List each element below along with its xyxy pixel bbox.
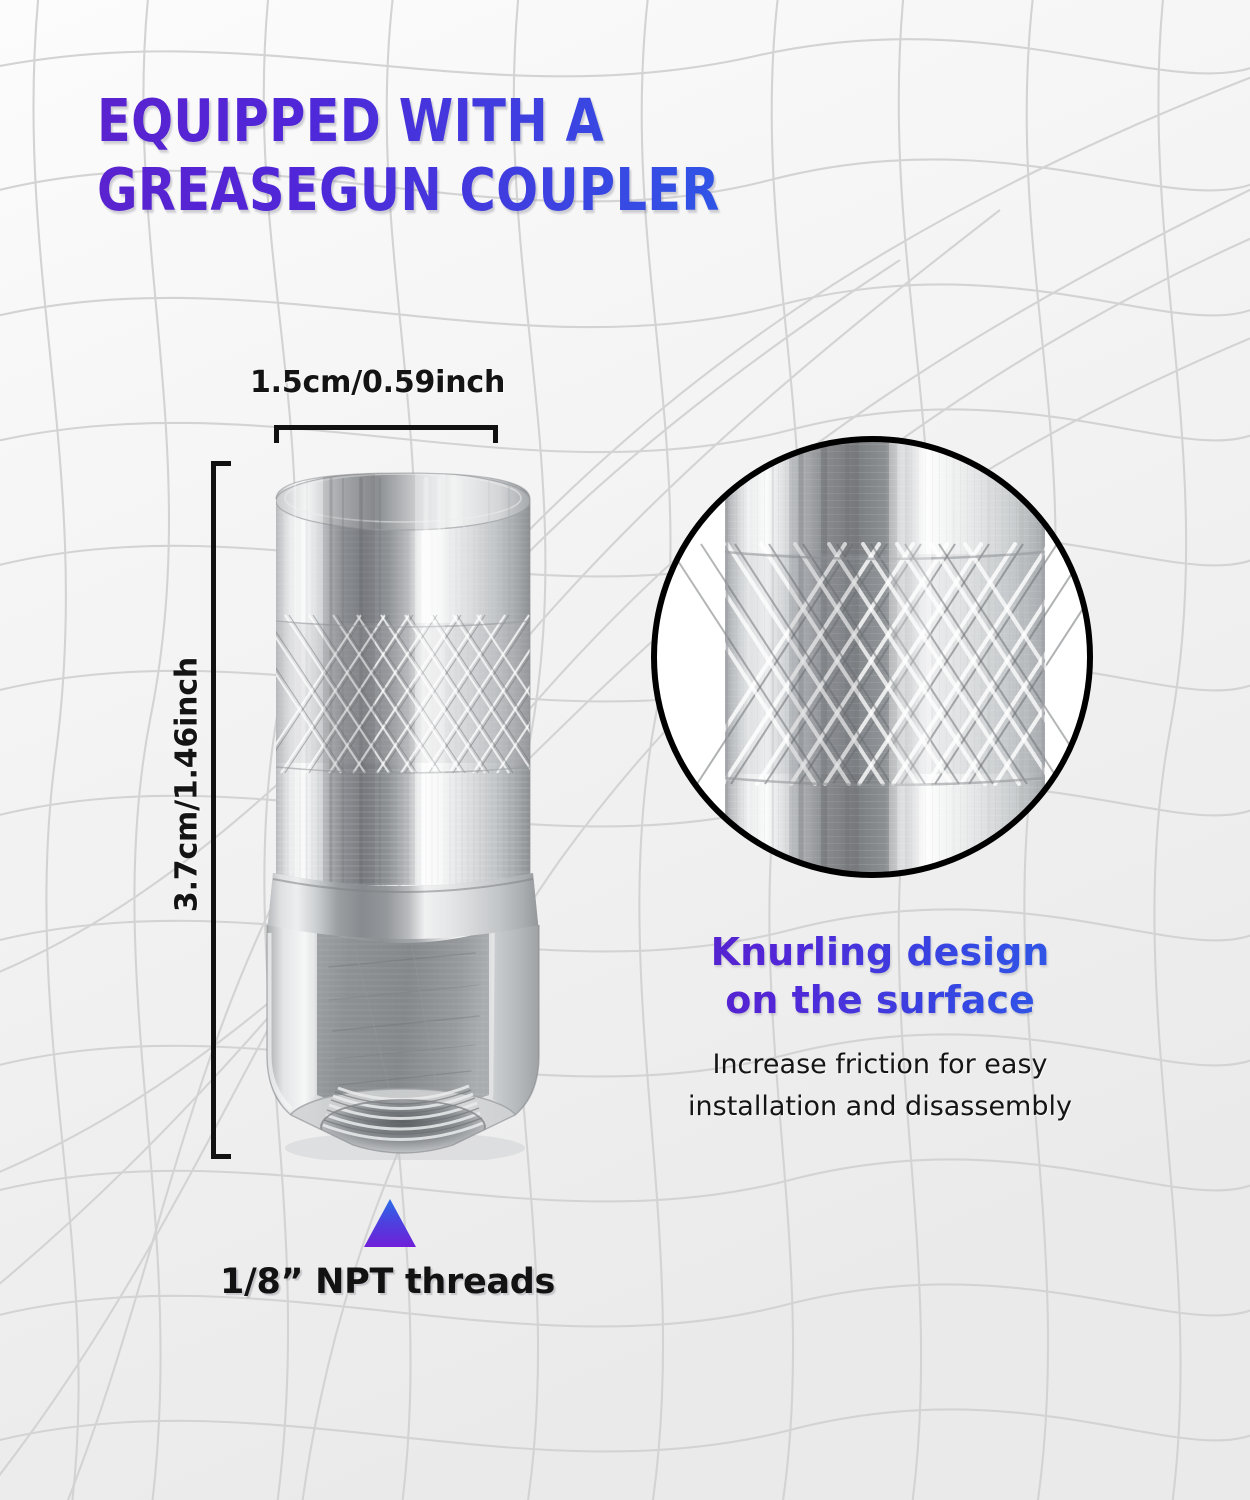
knurling-heading-line-1: Knurling design bbox=[620, 928, 1140, 976]
height-dimension-bracket bbox=[211, 461, 231, 1159]
knurling-callout-subtext: Increase friction for easy installation … bbox=[620, 1044, 1140, 1128]
height-dimension-label: 3.7cm/1.46inch bbox=[170, 585, 205, 985]
knurling-heading-line-2: on the surface bbox=[620, 976, 1140, 1024]
triangle-up-icon bbox=[362, 1197, 418, 1249]
page-title-line-2: GREASEGUN COUPLER bbox=[97, 155, 990, 224]
knurling-callout-heading: Knurling design on the surface bbox=[620, 928, 1140, 1024]
width-dimension-label: 1.5cm/0.59inch bbox=[250, 365, 505, 400]
npt-thread-label: 1/8” NPT threads bbox=[0, 1262, 775, 1302]
page-title-line-1: EQUIPPED WITH A bbox=[97, 86, 990, 155]
knurling-sub-line-1: Increase friction for easy bbox=[620, 1044, 1140, 1086]
product-photo-coupler bbox=[243, 455, 563, 1160]
knurling-magnified-view bbox=[649, 434, 1095, 880]
page-title: EQUIPPED WITH A GREASEGUN COUPLER bbox=[97, 86, 1057, 224]
infographic-page: EQUIPPED WITH A GREASEGUN COUPLER 1.5cm/… bbox=[0, 0, 1250, 1500]
knurling-sub-line-2: installation and disassembly bbox=[620, 1086, 1140, 1128]
width-dimension-bracket bbox=[274, 425, 498, 443]
